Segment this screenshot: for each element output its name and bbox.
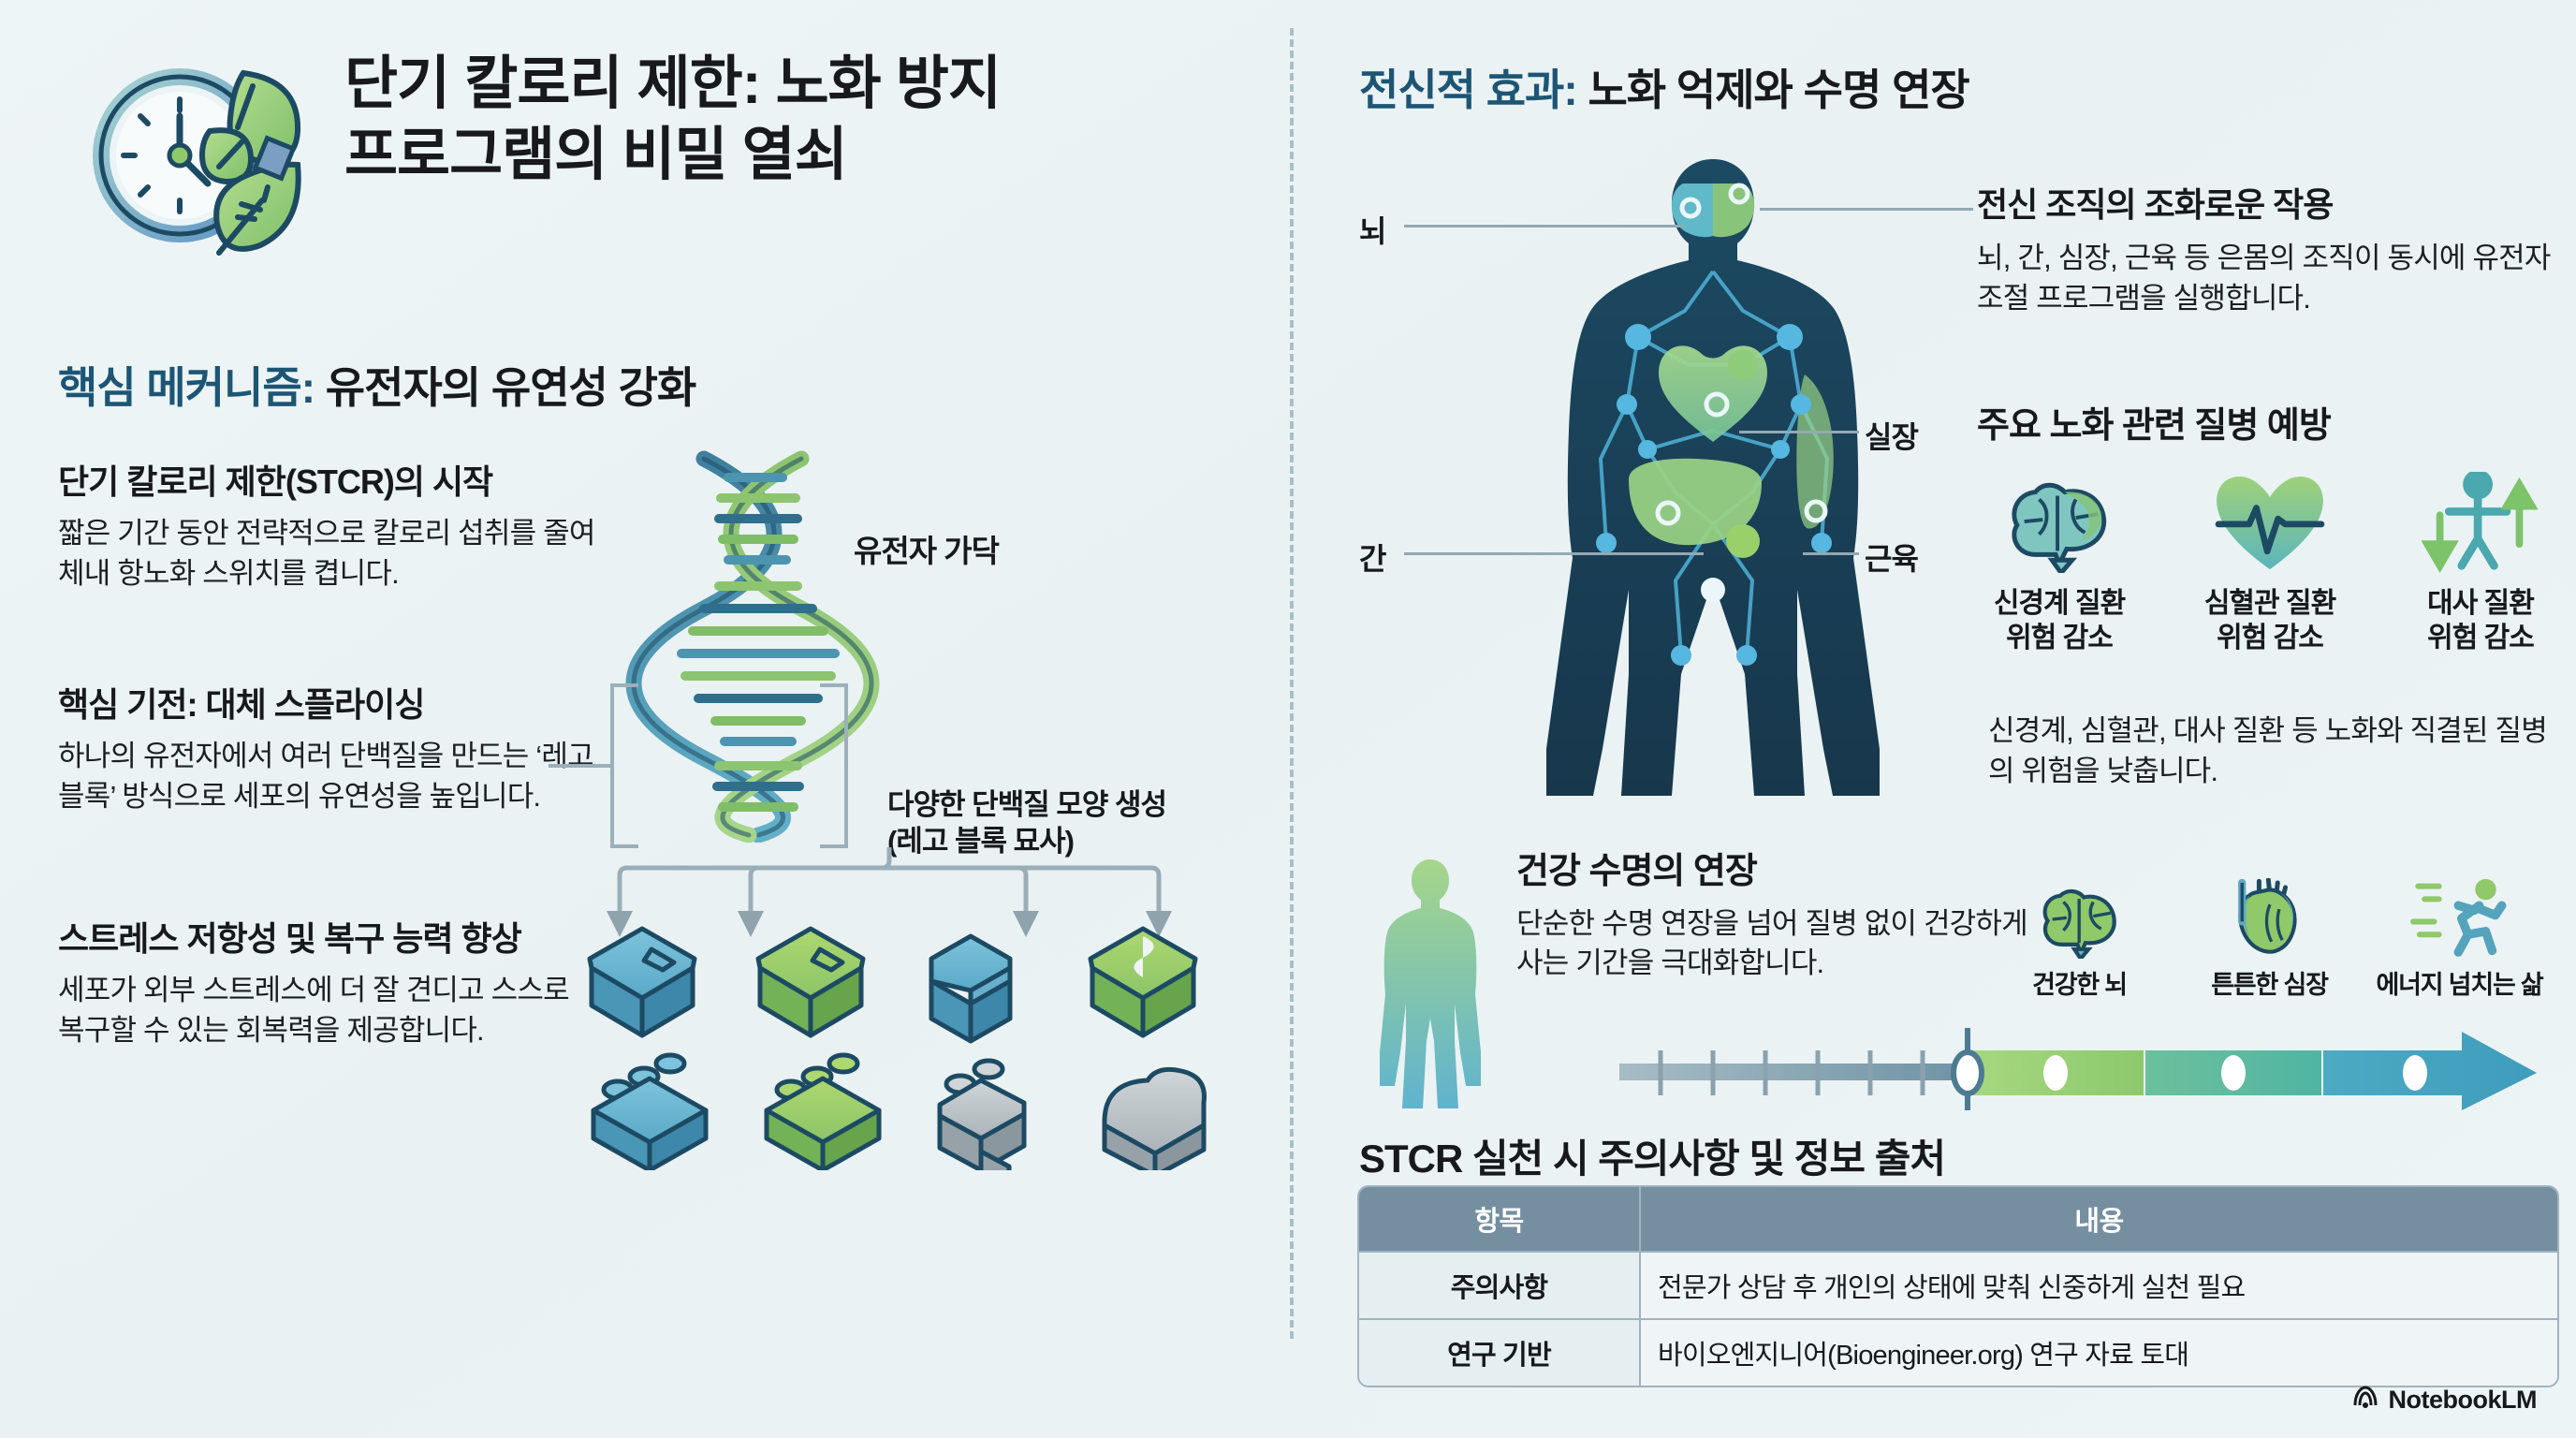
block-1-title: 단기 칼로리 제한(STCR)의 시작: [58, 461, 601, 503]
disease-icons-row: 신경계 질환 위험 감소 심혈관 질환 위험 감소: [1966, 468, 2574, 655]
healthspan-body: 단순한 수명 연장을 넘어 질병 없이 건강하게 사는 기간을 극대화합니다.: [1516, 904, 2041, 985]
human-body-organs-icon: [1488, 150, 1938, 805]
timeline-item-brain: 건강한 뇌: [1984, 878, 2174, 1001]
table-cell-value-caution: 전문가 상담 후 개인의 상태에 맞춰 신중하게 실천 필요: [1640, 1252, 2557, 1319]
body-label-liver: 간: [1359, 536, 1385, 579]
mechanism-heading-accent: 핵심 메커니즘:: [58, 363, 315, 412]
mechanism-block-3: 스트레스 저항성 및 복구 능력 향상 세포가 외부 스트레스에 더 잘 견디고…: [58, 917, 601, 1051]
lego-blocks-group: [580, 917, 1236, 1170]
leader-line-harmony: [1760, 208, 1973, 211]
table-cell-key-caution: 주의사항: [1359, 1252, 1640, 1319]
leader-line-liver: [1404, 552, 1704, 555]
timeline-item-energy: 에너지 넘치는 삶: [2364, 878, 2554, 1001]
brand-label: NotebookLM: [2389, 1386, 2537, 1415]
mechanism-block-1: 단기 칼로리 제한(STCR)의 시작 짧은 기간 동안 전략적으로 칼로리 섭…: [58, 461, 601, 594]
footer-brand: NotebookLM: [2351, 1385, 2537, 1416]
mechanism-section-heading: 핵심 메커니즘: 유전자의 유연성 강화: [58, 354, 695, 416]
healthspan-timeline: [1619, 1009, 2565, 1110]
disease-caption-cardio: 심혈관 질환 위험 감소: [2176, 586, 2364, 655]
timeline-caption-brain: 건강한 뇌: [1984, 964, 2174, 1001]
leader-line-heart: [1739, 431, 1859, 433]
source-table: 항목 내용 주의사항 전문가 상담 후 개인의 상태에 맞춰 신중하게 실천 필…: [1359, 1187, 2557, 1386]
harmony-body: 뇌, 간, 심장, 근육 등 은몸의 조직이 동시에 유전자 조절 프로그램을 …: [1977, 239, 2576, 319]
disease-heading: 주요 노화 관련 질병 예방: [1977, 404, 2331, 449]
notebooklm-icon: [2351, 1385, 2379, 1416]
running-person-icon: [2364, 878, 2554, 959]
body-label-muscle: 근육: [1865, 536, 1918, 579]
harmony-title: 전신 조직의 조화로운 작용: [1977, 183, 2576, 226]
timeline-item-heart: 튼튼한 심장: [2174, 878, 2364, 1001]
systemic-section-heading: 전신적 효과: 노화 억제와 수명 연장: [1359, 56, 1969, 118]
systemic-heading-accent: 전신적 효과:: [1359, 66, 1577, 114]
mechanism-block-2: 핵심 기전: 대체 스플라이싱 하나의 유전자에서 여러 단백질을 만드는 ‘레…: [58, 683, 601, 817]
timeline-icons-row: 건강한 뇌 튼튼한 심장: [1984, 878, 2555, 1001]
harmony-block: 전신 조직의 조화로운 작용 뇌, 간, 심장, 근육 등 은몸의 조직이 동시…: [1977, 183, 2576, 319]
table-row: 주의사항 전문가 상담 후 개인의 상태에 맞춰 신중하게 실천 필요: [1359, 1252, 2557, 1319]
block-3-title: 스트레스 저항성 및 복구 능력 향상: [58, 917, 601, 960]
brain-icon: [1966, 468, 2153, 573]
page-title: 단기 칼로리 제한: 노화 방지 프로그램의 비밀 열쇠: [344, 49, 1262, 192]
body-label-brain: 뇌: [1359, 208, 1385, 251]
gene-strand-label: 유전자 가닥: [854, 526, 999, 571]
anatomical-heart-icon: [2174, 878, 2364, 959]
protein-label-line-1: 다양한 단백질 모양 생성: [887, 788, 1166, 821]
timeline-caption-heart: 튼튼한 심장: [2174, 964, 2364, 1001]
disease-caption-neuro: 신경계 질환 위험 감소: [1966, 586, 2153, 655]
clock-leaf-icon: [77, 45, 311, 260]
mechanism-heading-rest: 유전자의 유연성 강화: [315, 363, 695, 412]
block-1-body: 짧은 기간 동안 전략적으로 칼로리 섭취를 줄여 체내 항노화 스위치를 켭니…: [58, 514, 601, 594]
splicing-bracket: [549, 682, 904, 850]
infographic-canvas: 단기 칼로리 제한: 노화 방지 프로그램의 비밀 열쇠 핵심 메커니즘: 유전…: [0, 0, 2576, 1438]
disease-item-cardio: 심혈관 질환 위험 감소: [2176, 468, 2364, 655]
leader-line-brain: [1404, 225, 1685, 227]
person-arrows-icon: [2387, 468, 2574, 573]
healthspan-block: 건강 수명의 연장 단순한 수명 연장을 넘어 질병 없이 건강하게 사는 기간…: [1516, 850, 2041, 984]
healthspan-title: 건강 수명의 연장: [1516, 850, 2041, 895]
source-table-heading: STCR 실천 시 주의사항 및 정보 출처: [1359, 1127, 1945, 1184]
timeline-caption-energy: 에너지 넘치는 삶: [2364, 964, 2554, 1001]
systemic-heading-rest: 노화 억제와 수명 연장: [1577, 66, 1969, 114]
disease-item-neuro: 신경계 질환 위험 감소: [1966, 468, 2153, 655]
table-cell-key-research: 연구 기반: [1359, 1319, 1640, 1386]
block-2-body: 하나의 유전자에서 여러 단백질을 만드는 ‘레고 블록’ 방식으로 세포의 유…: [58, 737, 601, 817]
disease-item-metabolic: 대사 질환 위험 감소: [2387, 468, 2574, 655]
column-divider: [1290, 28, 1294, 1339]
block-2-title: 핵심 기전: 대체 스플라이싱: [58, 683, 601, 726]
table-col-content: 내용: [1640, 1187, 2557, 1252]
disease-caption-metabolic: 대사 질환 위험 감소: [2387, 586, 2574, 655]
body-label-heart: 실장: [1865, 414, 1918, 457]
leader-line-muscle: [1803, 552, 1859, 555]
title-line-2: 프로그램의 비밀 열쇠: [344, 123, 847, 187]
title-line-1: 단기 칼로리 제한: 노화 방지: [344, 51, 1001, 116]
table-cell-value-research: 바이오엔지니어(Bioengineer.org) 연구 자료 토대: [1640, 1319, 2557, 1386]
table-header-row: 항목 내용: [1359, 1187, 2557, 1252]
disease-note: 신경계, 심혈관, 대사 질환 등 노화와 직결된 질병의 위험을 낮춥니다.: [1988, 712, 2569, 792]
table-row: 연구 기반 바이오엔지니어(Bioengineer.org) 연구 자료 토대: [1359, 1319, 2557, 1386]
block-3-body: 세포가 외부 스트레스에 더 잘 견디고 스스로 복구할 수 있는 회복력을 제…: [58, 971, 601, 1051]
brain-green-icon: [1984, 878, 2174, 959]
human-silhouette-icon: [1374, 854, 1486, 1116]
heart-pulse-icon: [2176, 468, 2364, 573]
table-col-item: 항목: [1359, 1187, 1640, 1252]
